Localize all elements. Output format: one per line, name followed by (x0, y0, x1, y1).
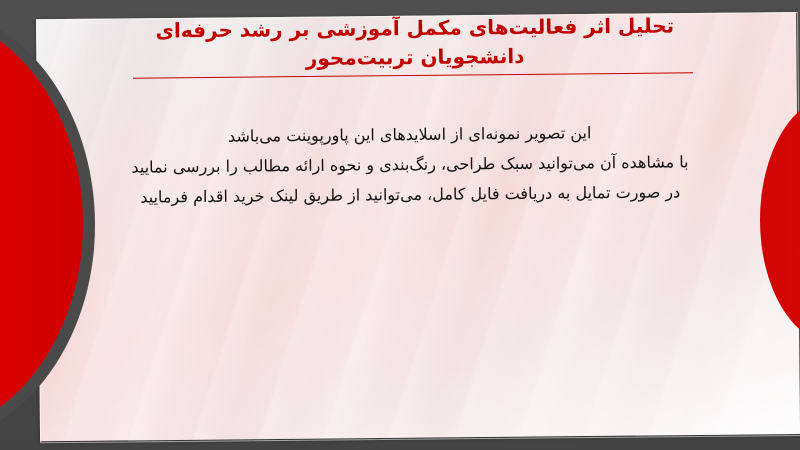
presentation-slide: تحلیل اثر فعالیت‌های مکمل آموزشی بر رشد … (0, 0, 800, 450)
slide-body-line-3: در صورت تمایل به دریافت فایل کامل، می‌تو… (120, 177, 700, 213)
slide-title-line-1: تحلیل اثر فعالیت‌های مکمل آموزشی بر رشد … (120, 11, 710, 46)
slide-title-line-2: دانشجویان تربیت‌محور (120, 40, 710, 75)
slide-body-text: این تصویر نمونه‌ای از اسلایدهای این پاور… (120, 117, 701, 213)
panel-sheen-overlay (36, 12, 800, 441)
slide-content-panel (36, 12, 800, 441)
slide-title: تحلیل اثر فعالیت‌های مکمل آموزشی بر رشد … (120, 11, 711, 75)
